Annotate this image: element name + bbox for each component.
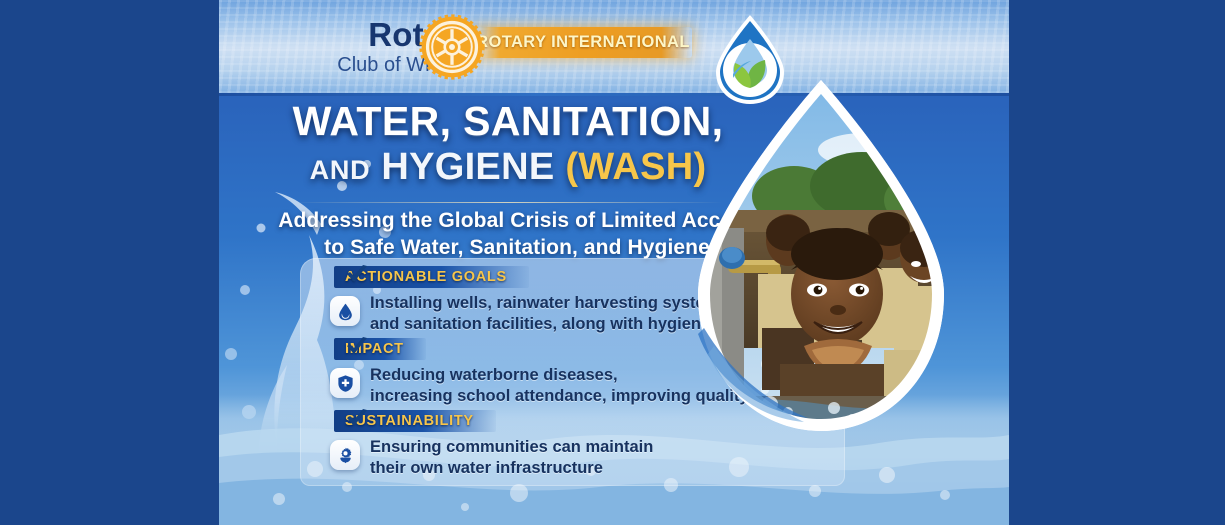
wash-poster: ROTARY INTERNATIONAL Rotary Club of Whit… <box>219 0 1009 525</box>
section-body-line-2: their own water infrastructure <box>370 458 653 479</box>
children-drinking-from-tap-photo <box>684 78 959 438</box>
shield-cross-glyph <box>336 374 355 393</box>
rotary-international-label: ROTARY INTERNATIONAL <box>476 33 690 52</box>
check-icon <box>344 335 370 361</box>
headline-divider <box>293 202 723 203</box>
check-icon <box>344 407 370 433</box>
section-body-text: Ensuring communities can maintain their … <box>370 437 653 479</box>
shield-medical-cross-icon <box>330 368 360 398</box>
section-heading-ribbon: IMPACT <box>334 338 426 360</box>
check-icon <box>344 263 370 289</box>
section-heading-ribbon: ACTIONABLE GOALS <box>334 266 529 288</box>
section-body-line-1: Ensuring communities can maintain <box>370 437 653 458</box>
gear-leaves-icon <box>330 440 360 470</box>
rotary-wheel-icon <box>419 14 485 80</box>
rotary-international-banner: ROTARY INTERNATIONAL <box>474 27 692 58</box>
left-letterbox <box>0 0 219 525</box>
poster-canvas: ROTARY INTERNATIONAL Rotary Club of Whit… <box>0 0 1225 525</box>
headline-and: AND <box>310 155 371 185</box>
water-drop-icon <box>330 296 360 326</box>
water-drop-glyph <box>336 302 355 321</box>
gear-leaves-glyph <box>336 446 355 465</box>
section-body-row: Ensuring communities can maintain their … <box>300 437 845 479</box>
right-letterbox <box>1009 0 1225 525</box>
section-heading-ribbon: SUSTAINABILITY <box>334 410 496 432</box>
headline-hygiene: HYGIENE <box>381 146 554 188</box>
